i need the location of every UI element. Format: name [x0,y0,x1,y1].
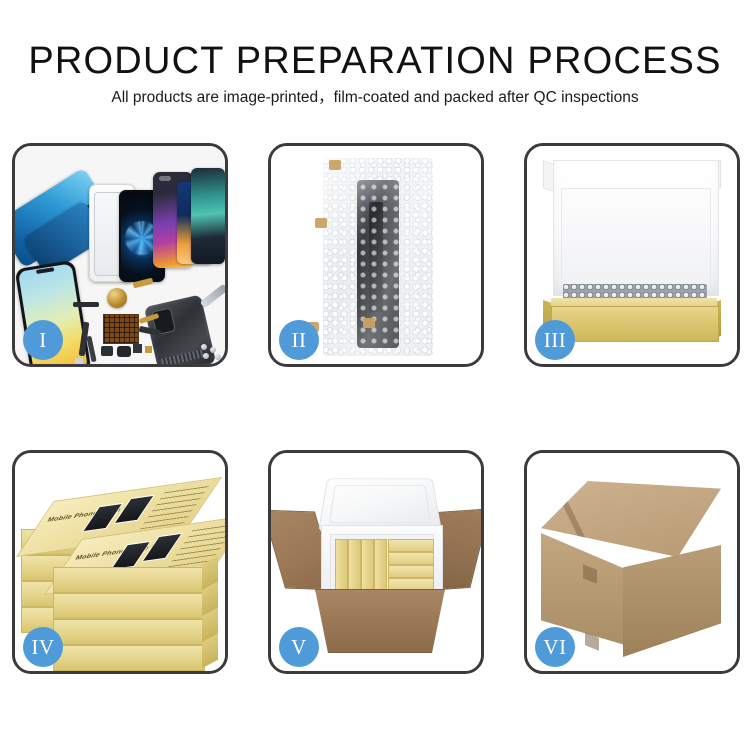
header: PRODUCT PREPARATION PROCESS All products… [0,0,750,130]
process-step-3: III [524,143,740,367]
step-badge-4: IV [23,627,63,667]
process-step-4: Mobile Phone Spare Parts Mobile Phone Sp… [12,450,228,674]
process-step-6: VI [524,450,740,674]
step-badge-3: III [535,320,575,360]
vibration-motor-part [117,346,131,357]
housing-ribbon-strip [161,349,204,364]
inner-box-h-1 [388,539,434,552]
step-badge-6: VI [535,627,575,667]
carton-front-wall [315,589,445,653]
screw-set [201,344,223,360]
taptic-engine-part [73,302,99,307]
box-lid-inner-panel [561,188,711,290]
chip-part-2 [145,346,152,353]
bag-gloss-highlight [323,158,433,356]
chip-part-1 [133,344,142,353]
process-step-1: I [12,143,228,367]
page-title: PRODUCT PREPARATION PROCESS [0,40,750,82]
foam-cooler-lid [318,478,442,531]
process-step-grid: I II [12,143,740,675]
small-connector-part [75,358,83,364]
stack-box-front-1 [53,567,205,593]
step-badge-2: II [279,320,319,360]
foam-cavity [330,534,434,590]
logic-board-part [103,314,139,344]
process-step-2: II [268,143,484,367]
stack-box-front-4 [53,645,205,671]
phone-teal [191,168,225,264]
step-badge-1: I [23,320,63,360]
gold-coil-part [107,288,127,308]
inner-box-v-1 [335,539,348,593]
foam-cooler-body [321,525,443,597]
step-badge-5: V [279,627,319,667]
tape-piece-2 [315,218,327,228]
stack-box-front-3 [53,619,205,645]
process-step-5: V [268,450,484,674]
speaker-part [101,346,113,356]
inner-box-h-3 [388,565,434,578]
tape-piece-4 [363,318,375,328]
tape-piece-1 [329,160,341,170]
stack-box-front-2 [53,593,205,619]
inner-box-v-2 [348,539,361,593]
inner-box-h-2 [388,552,434,565]
inner-box-v-4 [374,539,387,593]
box-front-face [551,306,719,342]
page-subtitle: All products are image-printed，film-coat… [0,88,750,108]
inner-box-v-3 [361,539,374,593]
